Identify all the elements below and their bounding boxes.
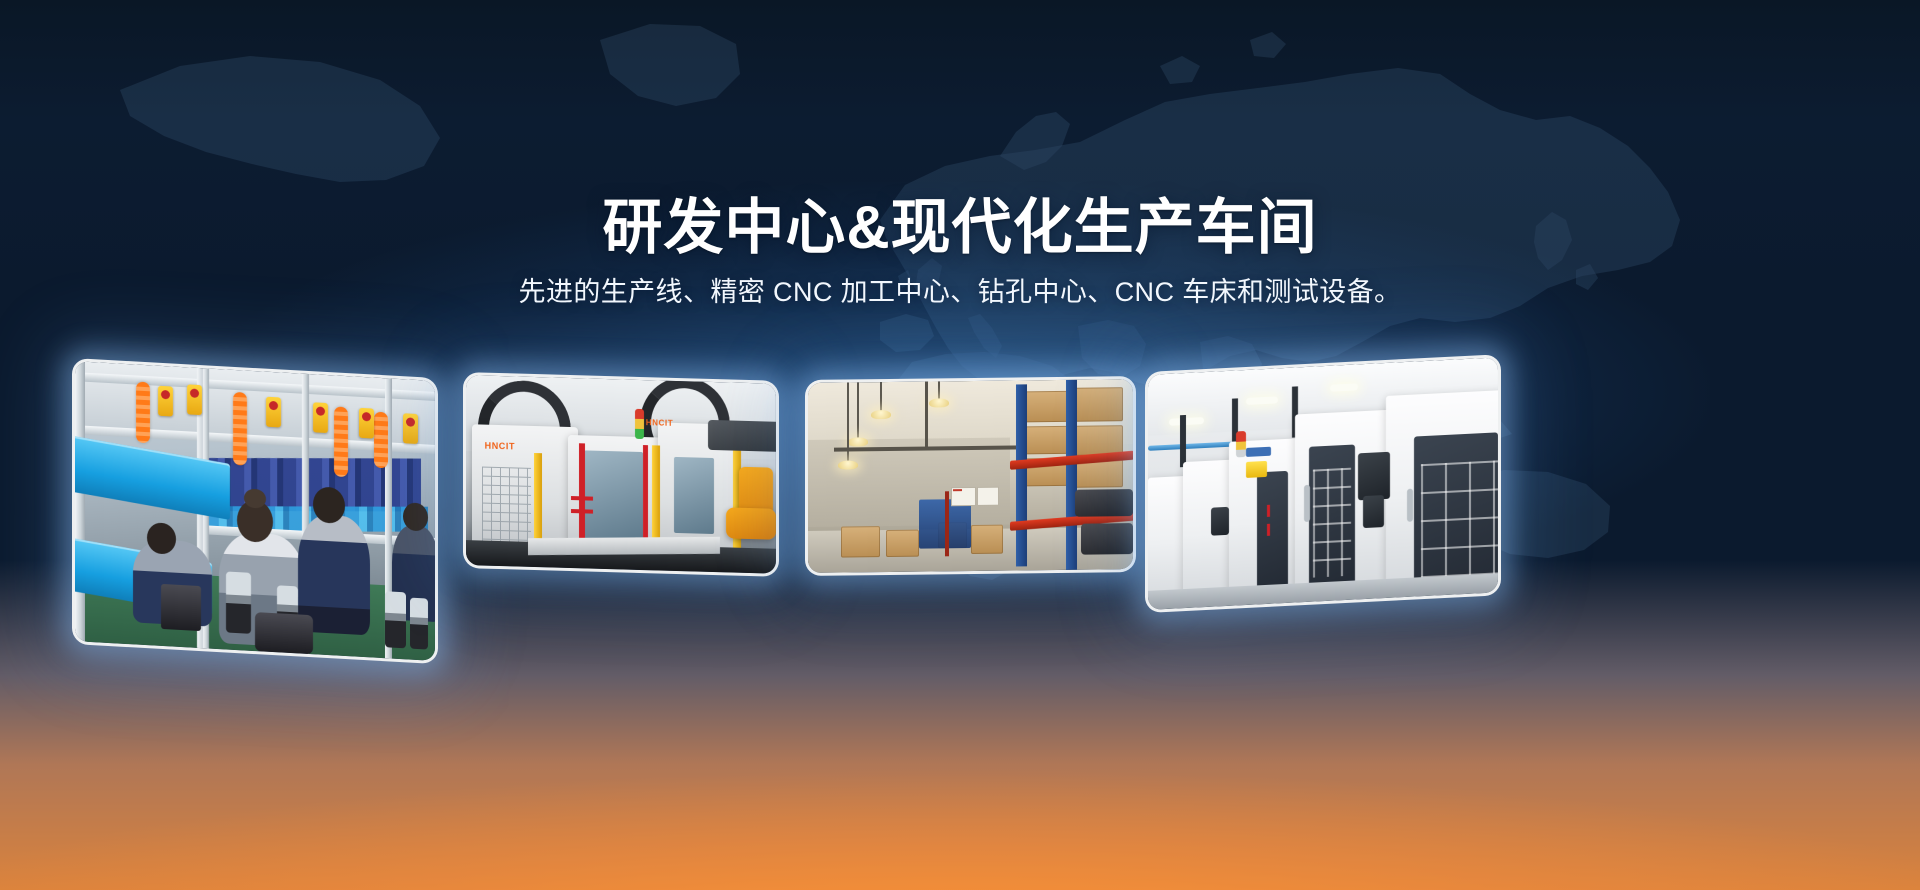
page-title: 研发中心&现代化生产车间	[0, 196, 1920, 261]
photo-warehouse	[808, 379, 1133, 573]
gallery-panel-warehouse[interactable]	[805, 376, 1136, 576]
machine-brand-label-right: HNCIT	[646, 418, 673, 428]
photo-assembly-line	[75, 361, 435, 661]
gallery-panel-cnc-machining-center[interactable]: HNCIT HNCIT	[463, 372, 779, 577]
photo-cnc-machining-center: HNCIT HNCIT	[466, 375, 776, 574]
hero-banner: 研发中心&现代化生产车间 先进的生产线、精密 CNC 加工中心、钻孔中心、CNC…	[0, 0, 1920, 890]
gallery-panel-cnc-lathe-workshop[interactable]	[1145, 354, 1501, 613]
gallery-panel-assembly-line[interactable]	[72, 358, 438, 664]
photo-cnc-lathe-workshop	[1148, 357, 1498, 609]
page-subtitle: 先进的生产线、精密 CNC 加工中心、钻孔中心、CNC 车床和测试设备。	[0, 275, 1920, 310]
headline-block: 研发中心&现代化生产车间 先进的生产线、精密 CNC 加工中心、钻孔中心、CNC…	[0, 196, 1920, 310]
photo-gallery: HNCIT HNCIT	[0, 0, 1920, 890]
machine-brand-label-left: HNCIT	[485, 440, 516, 451]
